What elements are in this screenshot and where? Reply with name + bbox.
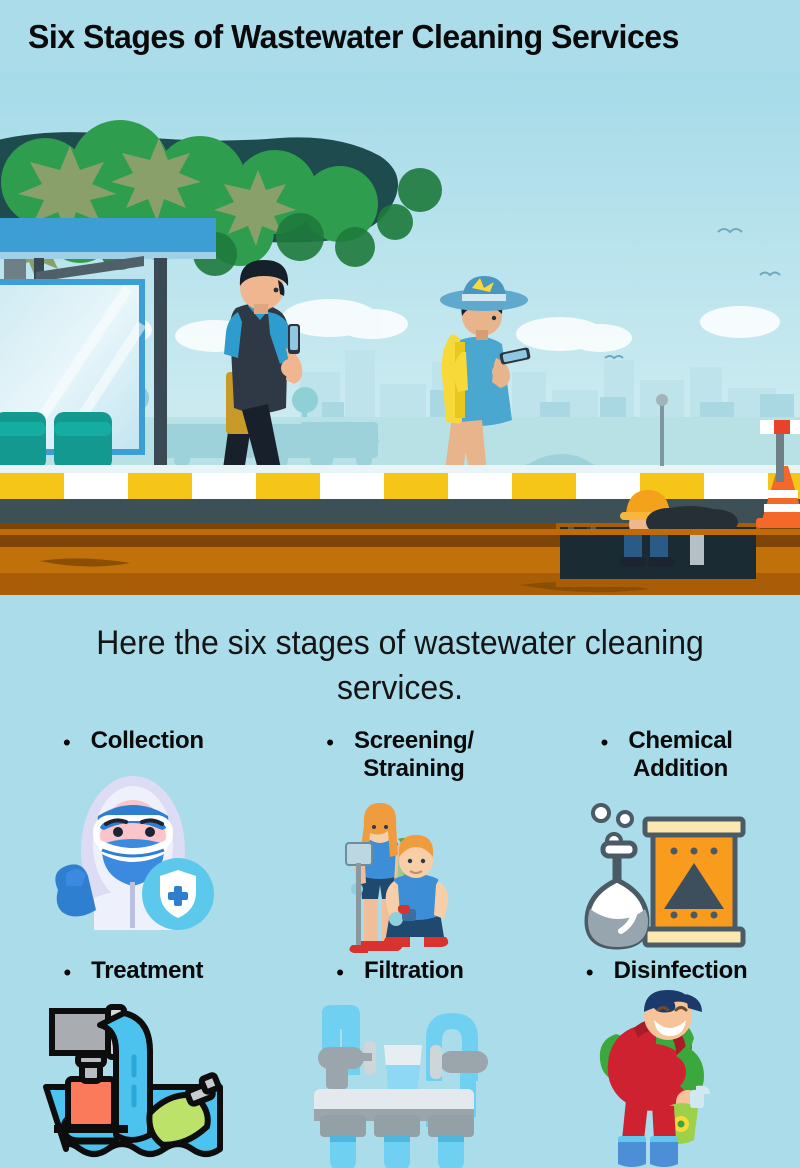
stage-icon-wrap [582,990,752,1168]
bullet-icon: • [601,730,609,756]
stage-label-row: • Filtration [267,957,534,986]
wastewater-outflow-icon [38,1003,228,1168]
water-filter-system-icon [300,1003,500,1168]
hazmat-worker-icon [38,770,228,930]
stage-icon-wrap [38,990,228,1168]
stage-label-row: • Collection [0,727,267,756]
stage-label-row: • Disinfection [533,957,800,986]
bullet-icon: • [326,730,334,756]
title-bar: Six Stages of Wastewater Cleaning Servic… [0,0,800,72]
infographic-page: Six Stages of Wastewater Cleaning Servic… [0,0,800,1132]
bullet-icon: • [63,730,71,756]
stage-label: Filtration [364,957,464,985]
stage-treatment[interactable]: • Treatment [0,957,267,1168]
page-title: Six Stages of Wastewater Cleaning Servic… [28,20,679,53]
stage-disinfection[interactable]: • Disinfection [533,957,800,1168]
chemical-barrel [645,819,743,945]
stage-icon-wrap [38,762,228,930]
stage-label: Collection [91,727,204,755]
intro-text: Here the six stages of wastewater cleani… [24,621,776,711]
stage-label: Disinfection [614,957,748,985]
ground-strip [0,535,800,607]
stage-icon-wrap [320,789,480,957]
stage-label-row: • Chemical Addition [533,727,800,784]
street-scene-svg [0,72,800,535]
stage-label: Treatment [91,957,203,985]
stage-collection[interactable]: • Collection [0,727,267,958]
bullet-icon: • [336,960,344,986]
stage-chemical-addition[interactable]: • Chemical Addition [533,727,800,958]
soil-layers-svg [0,535,800,607]
bullet-icon: • [586,960,594,986]
laboratory-flask [587,843,648,947]
spray-cleaner-worker-icon [582,990,752,1168]
hero-illustration [0,72,800,535]
stage-icon-wrap [300,990,500,1168]
stage-label: Screening/ Straining [354,727,474,784]
stage-label: Chemical Addition [628,727,732,784]
stage-icon-wrap [577,789,757,957]
bullet-icon: • [63,960,71,986]
cleaning-crew-icon [320,797,480,957]
stage-filtration[interactable]: • Filtration [267,957,534,1168]
stages-grid: • Collection [0,727,800,1168]
flask-and-barrel-icon [577,797,757,957]
curb-stripes [0,473,800,499]
stage-label-row: • Screening/ Straining [267,727,534,784]
stage-screening-straining[interactable]: • Screening/ Straining [267,727,534,958]
stage-label-row: • Treatment [0,957,267,986]
